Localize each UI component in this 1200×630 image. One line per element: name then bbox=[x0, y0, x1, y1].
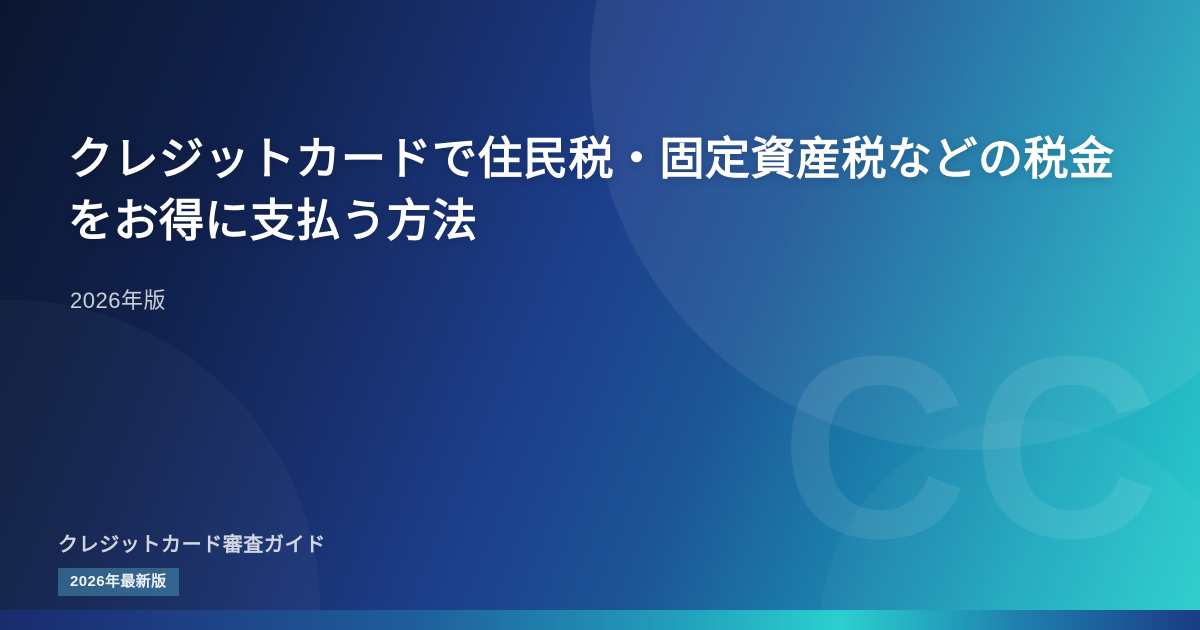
bottom-accent-bar bbox=[0, 610, 1200, 630]
cc-watermark-text: CC bbox=[780, 344, 1164, 552]
status-badge: 2026年最新版 bbox=[58, 568, 179, 596]
page-title: クレジットカードで住民税・固定資産税などの税金をお得に支払う方法 bbox=[68, 128, 1142, 252]
page-subtitle: 2026年版 bbox=[70, 288, 1142, 314]
site-brand-name: クレジットカード審査ガイド bbox=[58, 533, 326, 557]
footer-block: クレジットカード審査ガイド 2026年最新版 bbox=[58, 533, 326, 596]
og-card: CC クレジットカードで住民税・固定資産税などの税金をお得に支払う方法 2026… bbox=[0, 0, 1200, 630]
content-block: クレジットカードで住民税・固定資産税などの税金をお得に支払う方法 2026年版 bbox=[68, 128, 1142, 314]
